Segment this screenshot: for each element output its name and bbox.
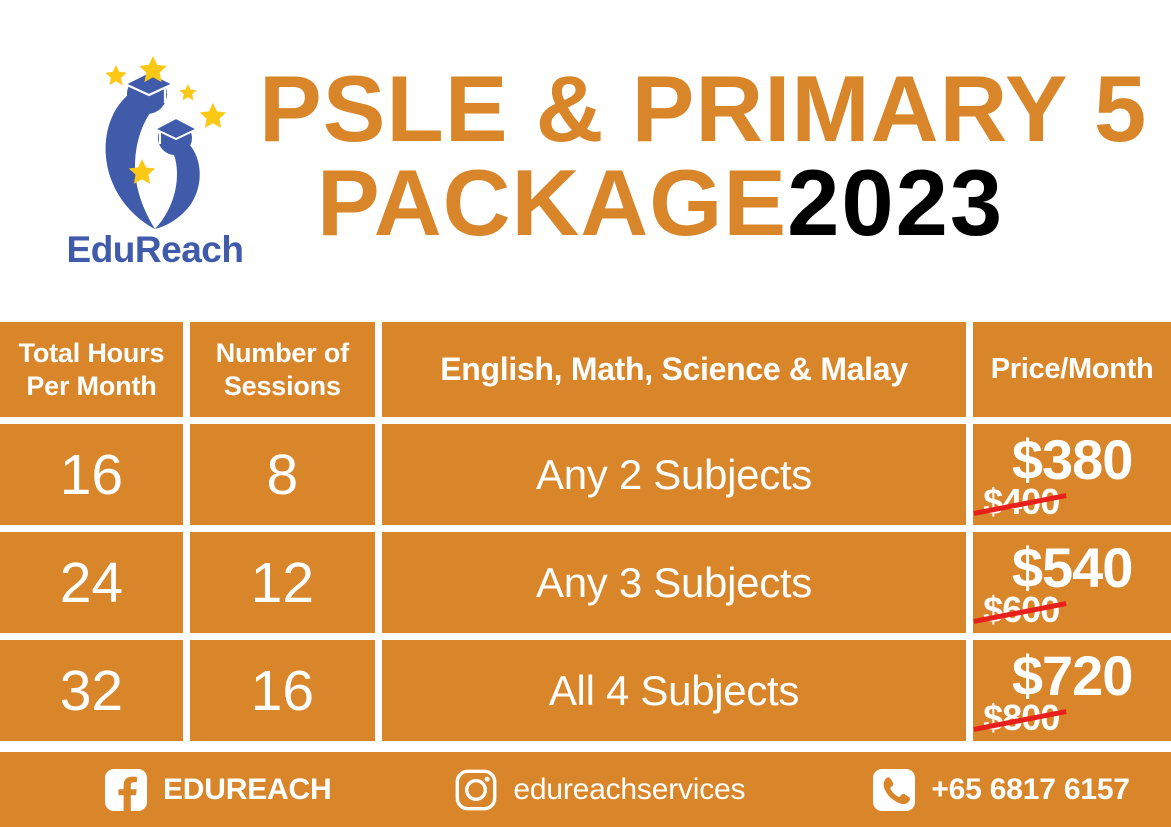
poster-headline: PSLE & PRIMARY 5 PACKAGE2023 bbox=[255, 66, 1155, 247]
cell-subjects: Any 3 Subjects bbox=[382, 532, 966, 633]
column-header-total-hours: Total Hours Per Month bbox=[0, 322, 183, 417]
brand-logo: EduReach bbox=[55, 48, 255, 278]
column-header-total-hours-line2: Per Month bbox=[19, 370, 165, 403]
pricing-table: Total Hours Per Month Number of Sessions… bbox=[0, 322, 1171, 752]
table-row: 16 8 Any 2 Subjects $380 $400 bbox=[0, 424, 1171, 525]
phone-number: +65 6817 6157 bbox=[931, 773, 1129, 807]
edureach-graduates-stars-logo bbox=[85, 48, 230, 233]
price-current: $380 bbox=[1012, 432, 1133, 488]
facebook-contact[interactable]: EDUREACH bbox=[105, 769, 331, 811]
column-header-price-per-month: Price/Month bbox=[973, 322, 1171, 417]
cell-price: $380 $400 bbox=[973, 424, 1171, 525]
headline-year: 2023 bbox=[787, 150, 1004, 255]
cell-total-hours: 24 bbox=[0, 532, 183, 633]
instagram-handle: edureachservices bbox=[513, 773, 745, 807]
cell-price: $540 $600 bbox=[973, 532, 1171, 633]
brand-wordmark: EduReach bbox=[55, 231, 255, 268]
pricing-poster: EduReach PSLE & PRIMARY 5 PACKAGE2023 To… bbox=[0, 0, 1171, 827]
instagram-contact[interactable]: edureachservices bbox=[455, 769, 745, 811]
column-header-sessions-line1: Number of bbox=[216, 337, 349, 370]
price-original-wrap: $400 bbox=[983, 484, 1059, 520]
headline-line-2: PACKAGE2023 bbox=[255, 160, 1155, 246]
price-current: $720 bbox=[1012, 648, 1133, 704]
price-original-wrap: $800 bbox=[983, 700, 1059, 736]
cell-subjects: All 4 Subjects bbox=[382, 640, 966, 741]
facebook-icon bbox=[105, 769, 147, 811]
headline-package-word: PACKAGE bbox=[317, 150, 787, 255]
cell-sessions: 8 bbox=[190, 424, 375, 525]
headline-line-1: PSLE & PRIMARY 5 bbox=[255, 66, 1155, 152]
column-header-number-of-sessions: Number of Sessions bbox=[190, 322, 375, 417]
cell-subjects: Any 2 Subjects bbox=[382, 424, 966, 525]
table-row: 32 16 All 4 Subjects $720 $800 bbox=[0, 640, 1171, 741]
cell-total-hours: 32 bbox=[0, 640, 183, 741]
phone-contact[interactable]: +65 6817 6157 bbox=[873, 769, 1129, 811]
cell-sessions: 12 bbox=[190, 532, 375, 633]
facebook-handle: EDUREACH bbox=[163, 773, 331, 807]
table-header-row: Total Hours Per Month Number of Sessions… bbox=[0, 322, 1171, 417]
instagram-icon bbox=[455, 769, 497, 811]
cell-price: $720 $800 bbox=[973, 640, 1171, 741]
phone-icon bbox=[873, 769, 915, 811]
poster-footer: EDUREACH edureachservices +65 6817 6157 bbox=[0, 752, 1171, 827]
cell-total-hours: 16 bbox=[0, 424, 183, 525]
cell-sessions: 16 bbox=[190, 640, 375, 741]
poster-header: EduReach PSLE & PRIMARY 5 PACKAGE2023 bbox=[0, 0, 1171, 322]
column-header-subjects: English, Math, Science & Malay bbox=[382, 322, 966, 417]
price-current: $540 bbox=[1012, 540, 1133, 596]
column-header-sessions-line2: Sessions bbox=[216, 370, 349, 403]
price-original-wrap: $600 bbox=[983, 592, 1059, 628]
column-header-total-hours-line1: Total Hours bbox=[19, 337, 165, 370]
table-row: 24 12 Any 3 Subjects $540 $600 bbox=[0, 532, 1171, 633]
